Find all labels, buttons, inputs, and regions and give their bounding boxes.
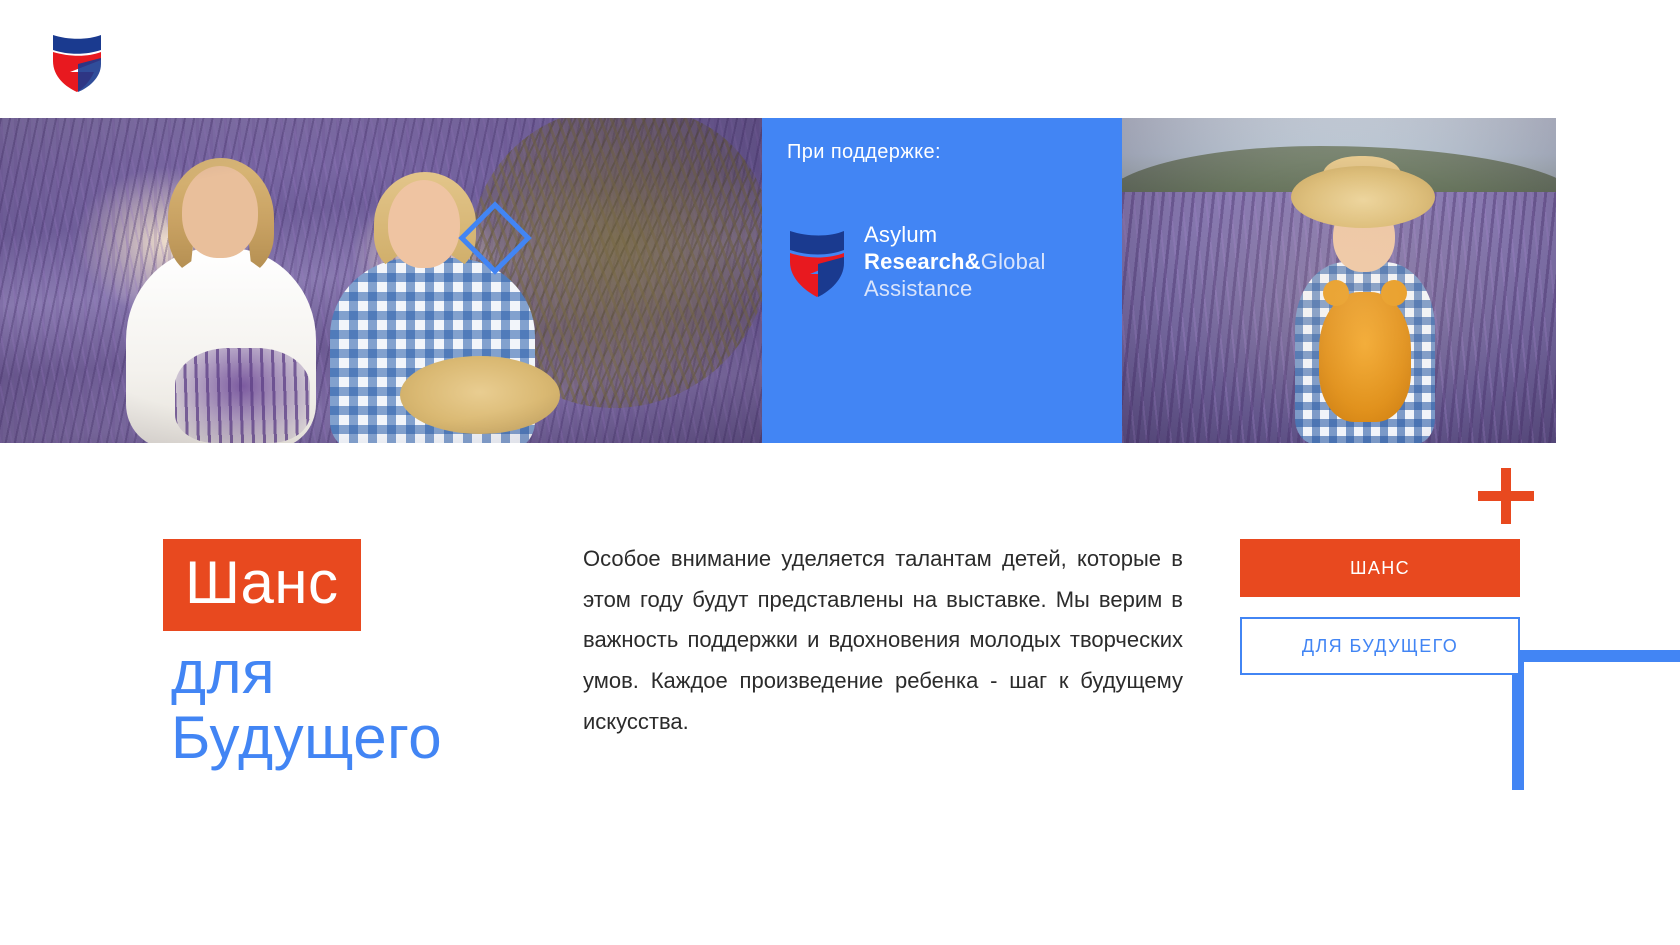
headline-line-1: Шанс [163,539,361,631]
support-logo: Asylum Research&Global Assistance [786,222,1046,302]
hero-photo-right [1122,118,1556,443]
chance-button[interactable]: ШАНС [1240,539,1520,597]
logo-line-2: Research&Global [864,249,1046,276]
headline-line-3: Будущего [163,706,523,771]
photo-vignette [0,118,762,443]
page-title: Шанс для Будущего [163,539,523,771]
photo-vignette [1122,118,1556,443]
headline-line-2: для [163,641,523,706]
landing-page: При поддержке: Asylum Research&Global As… [0,0,1680,945]
support-logo-text: Asylum Research&Global Assistance [864,222,1046,302]
logo-line-2-bold: Research& [864,249,981,274]
content-section: Шанс для Будущего Особое внимание уделяе… [0,443,1680,945]
shield-logo-icon[interactable] [48,28,106,94]
hero-image-band: При поддержке: Asylum Research&Global As… [0,118,1680,443]
page-header [0,0,1680,118]
logo-line-3: Assistance [864,276,1046,303]
logo-line-2-light: Global [981,249,1046,274]
body-paragraph: Особое внимание уделяется талантам детей… [583,539,1183,742]
support-panel: При поддержке: Asylum Research&Global As… [762,118,1122,443]
asylum-shield-logo-icon [786,226,848,298]
support-panel-title: При поддержке: [787,141,941,164]
logo-line-1: Asylum [864,222,1046,249]
hero-photo-left [0,118,762,443]
cta-button-group: ШАНС ДЛЯ БУДУЩЕГО [1240,539,1520,675]
for-future-button[interactable]: ДЛЯ БУДУЩЕГО [1240,617,1520,675]
